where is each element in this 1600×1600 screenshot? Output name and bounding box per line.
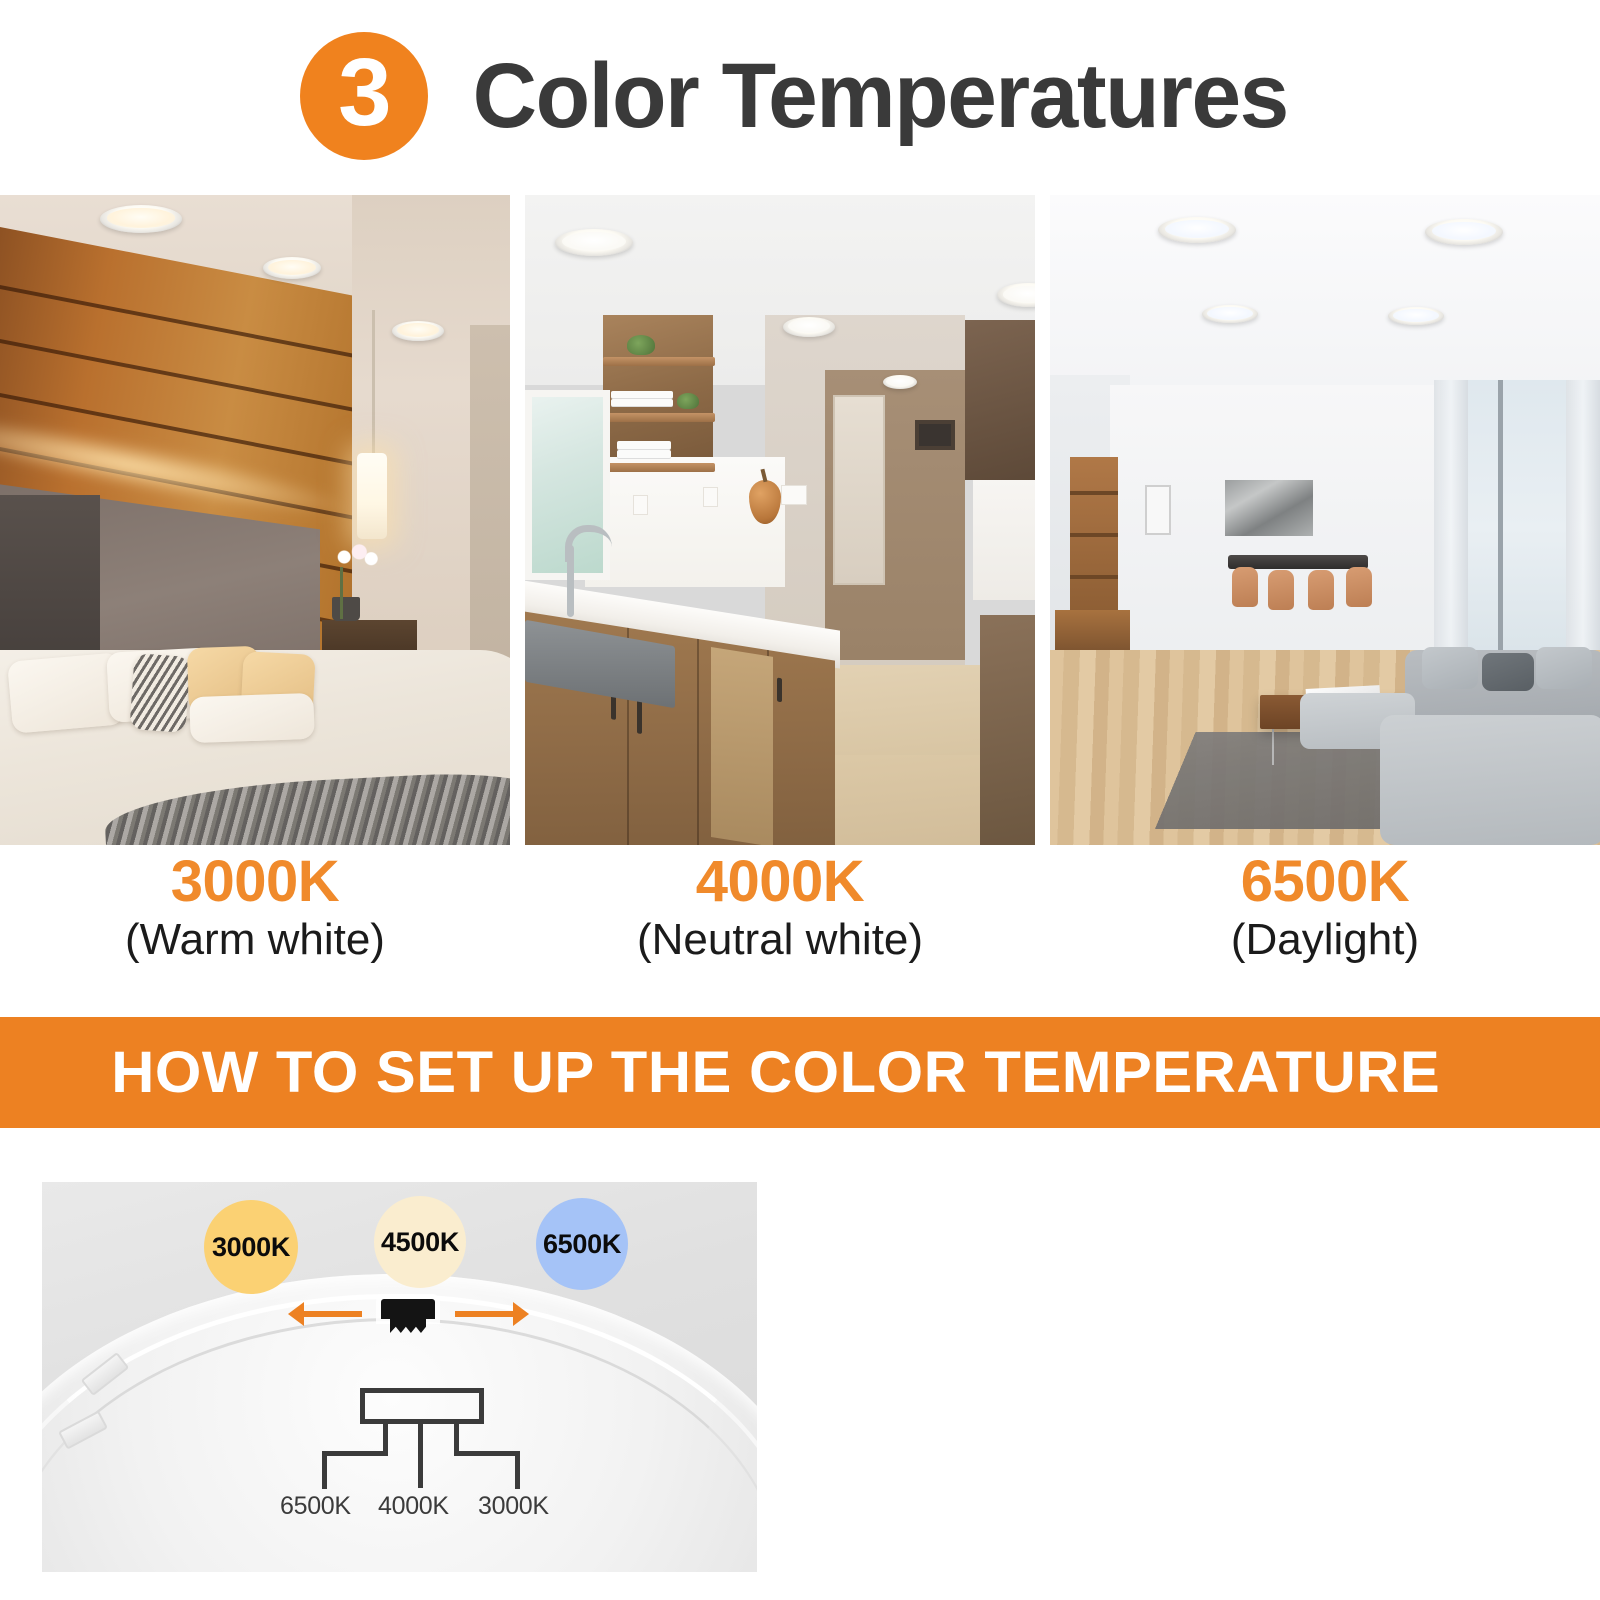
stacked-bowls	[617, 450, 671, 458]
orchid-flowers	[328, 540, 382, 574]
stacked-plates	[611, 399, 673, 406]
temp-badge-label: 3000K	[212, 1232, 290, 1263]
dining-chair	[1232, 567, 1258, 607]
setup-banner-text: HOW TO SET UP THE COLOR TEMPERATURE	[0, 1039, 1440, 1106]
toggle-switch-icon[interactable]	[381, 1299, 435, 1319]
switch-schematic-box	[360, 1388, 484, 1424]
dining-chair	[1346, 567, 1372, 607]
ceiling-light-fixture	[1202, 305, 1258, 323]
ceiling-light-fixture	[263, 257, 321, 279]
potted-plant	[627, 335, 655, 355]
number-badge-icon: 3	[300, 32, 428, 160]
ceiling-light-fixture	[100, 205, 182, 233]
orchid-stem	[340, 567, 343, 619]
temp-badge-label: 4500K	[381, 1227, 459, 1258]
right-base-cabinet	[980, 615, 1035, 845]
wall-artwork	[1225, 480, 1313, 536]
scene-photo-living-room	[1050, 195, 1600, 845]
kitchen-faucet	[567, 545, 574, 617]
pendant-lamp	[357, 453, 387, 539]
open-shelf	[603, 357, 715, 366]
ceiling-light-fixture	[1158, 217, 1236, 243]
kelvin-label-3000k: 3000K (Warm white)	[0, 852, 510, 965]
ceiling-light-fixture	[1425, 219, 1503, 245]
stacked-plates	[611, 391, 673, 398]
kelvin-value: 4000K	[525, 852, 1035, 913]
upper-cabinet	[603, 315, 713, 460]
light-switch	[781, 485, 807, 505]
stacked-bowls	[617, 441, 671, 449]
arrow-right-icon	[455, 1311, 515, 1317]
schematic-label-4000k: 4000K	[378, 1492, 449, 1521]
framed-art	[915, 420, 955, 450]
schematic-label-3000k: 3000K	[478, 1492, 549, 1521]
kelvin-value: 3000K	[0, 852, 510, 913]
schematic-label-6500k: 6500K	[280, 1492, 351, 1521]
dining-chair	[1268, 570, 1294, 610]
ceiling-light-fixture	[783, 317, 835, 337]
wall-outlet	[633, 495, 648, 515]
sofa-cushion	[1422, 647, 1478, 689]
quartz-backsplash	[585, 457, 785, 587]
succulent-plant	[677, 393, 699, 409]
ceiling-light-fixture	[883, 375, 917, 389]
arrow-left-icon	[302, 1311, 362, 1317]
lumbar-pillow	[189, 693, 315, 743]
scene-photo-kitchen	[525, 195, 1035, 845]
ceiling-light-fixture	[392, 321, 444, 341]
light-switch	[703, 487, 718, 507]
open-shelf	[603, 413, 715, 422]
hallway-door	[833, 395, 885, 585]
infographic-page: 3 Color Temperatures	[0, 0, 1600, 1600]
console-cabinet	[1055, 610, 1130, 652]
temp-badge-label: 6500K	[543, 1229, 621, 1260]
bottom-section: 3000K 4500K 6500K Easy Control Switch 1.…	[0, 1128, 1600, 1600]
kelvin-value: 6500K	[1050, 852, 1600, 913]
kelvin-description: (Neutral white)	[525, 915, 1035, 966]
kelvin-description: (Daylight)	[1050, 915, 1600, 966]
page-title: Color Temperatures	[472, 44, 1287, 149]
sofa-cushion	[1536, 647, 1592, 689]
accent-pillow-striped	[129, 653, 190, 733]
plant-pot	[332, 597, 360, 621]
dining-chair	[1308, 570, 1334, 610]
setup-banner: HOW TO SET UP THE COLOR TEMPERATURE	[0, 1017, 1600, 1128]
ceiling-light-fixture	[1388, 307, 1444, 325]
open-shelf	[603, 463, 715, 472]
scene-photo-bedroom	[0, 195, 510, 845]
sectional-sofa-seat	[1380, 715, 1600, 845]
living-room-ceiling	[1050, 195, 1600, 410]
kelvin-description: (Warm white)	[0, 915, 510, 966]
framed-print	[1145, 485, 1171, 535]
scene-photo-row	[0, 195, 1600, 845]
ceiling-light-fixture	[555, 229, 633, 256]
temp-badge-3000k: 3000K	[204, 1200, 298, 1294]
temp-badge-6500k: 6500K	[536, 1198, 628, 1290]
kelvin-label-6500k: 6500K (Daylight)	[1050, 852, 1600, 965]
kelvin-label-4000k: 4000K (Neutral white)	[525, 852, 1035, 965]
upper-cabinet-dark	[965, 320, 1035, 480]
page-header: 3 Color Temperatures	[0, 0, 1600, 192]
badge-number: 3	[338, 45, 389, 141]
pendant-cord	[372, 310, 375, 458]
bookshelf	[1070, 457, 1118, 617]
dishwasher	[711, 647, 773, 845]
kelvin-labels-row: 3000K (Warm white) 4000K (Neutral white)…	[0, 852, 1600, 1004]
sofa-cushion-dark	[1482, 653, 1534, 691]
temp-badge-4500k: 4500K	[374, 1196, 466, 1288]
